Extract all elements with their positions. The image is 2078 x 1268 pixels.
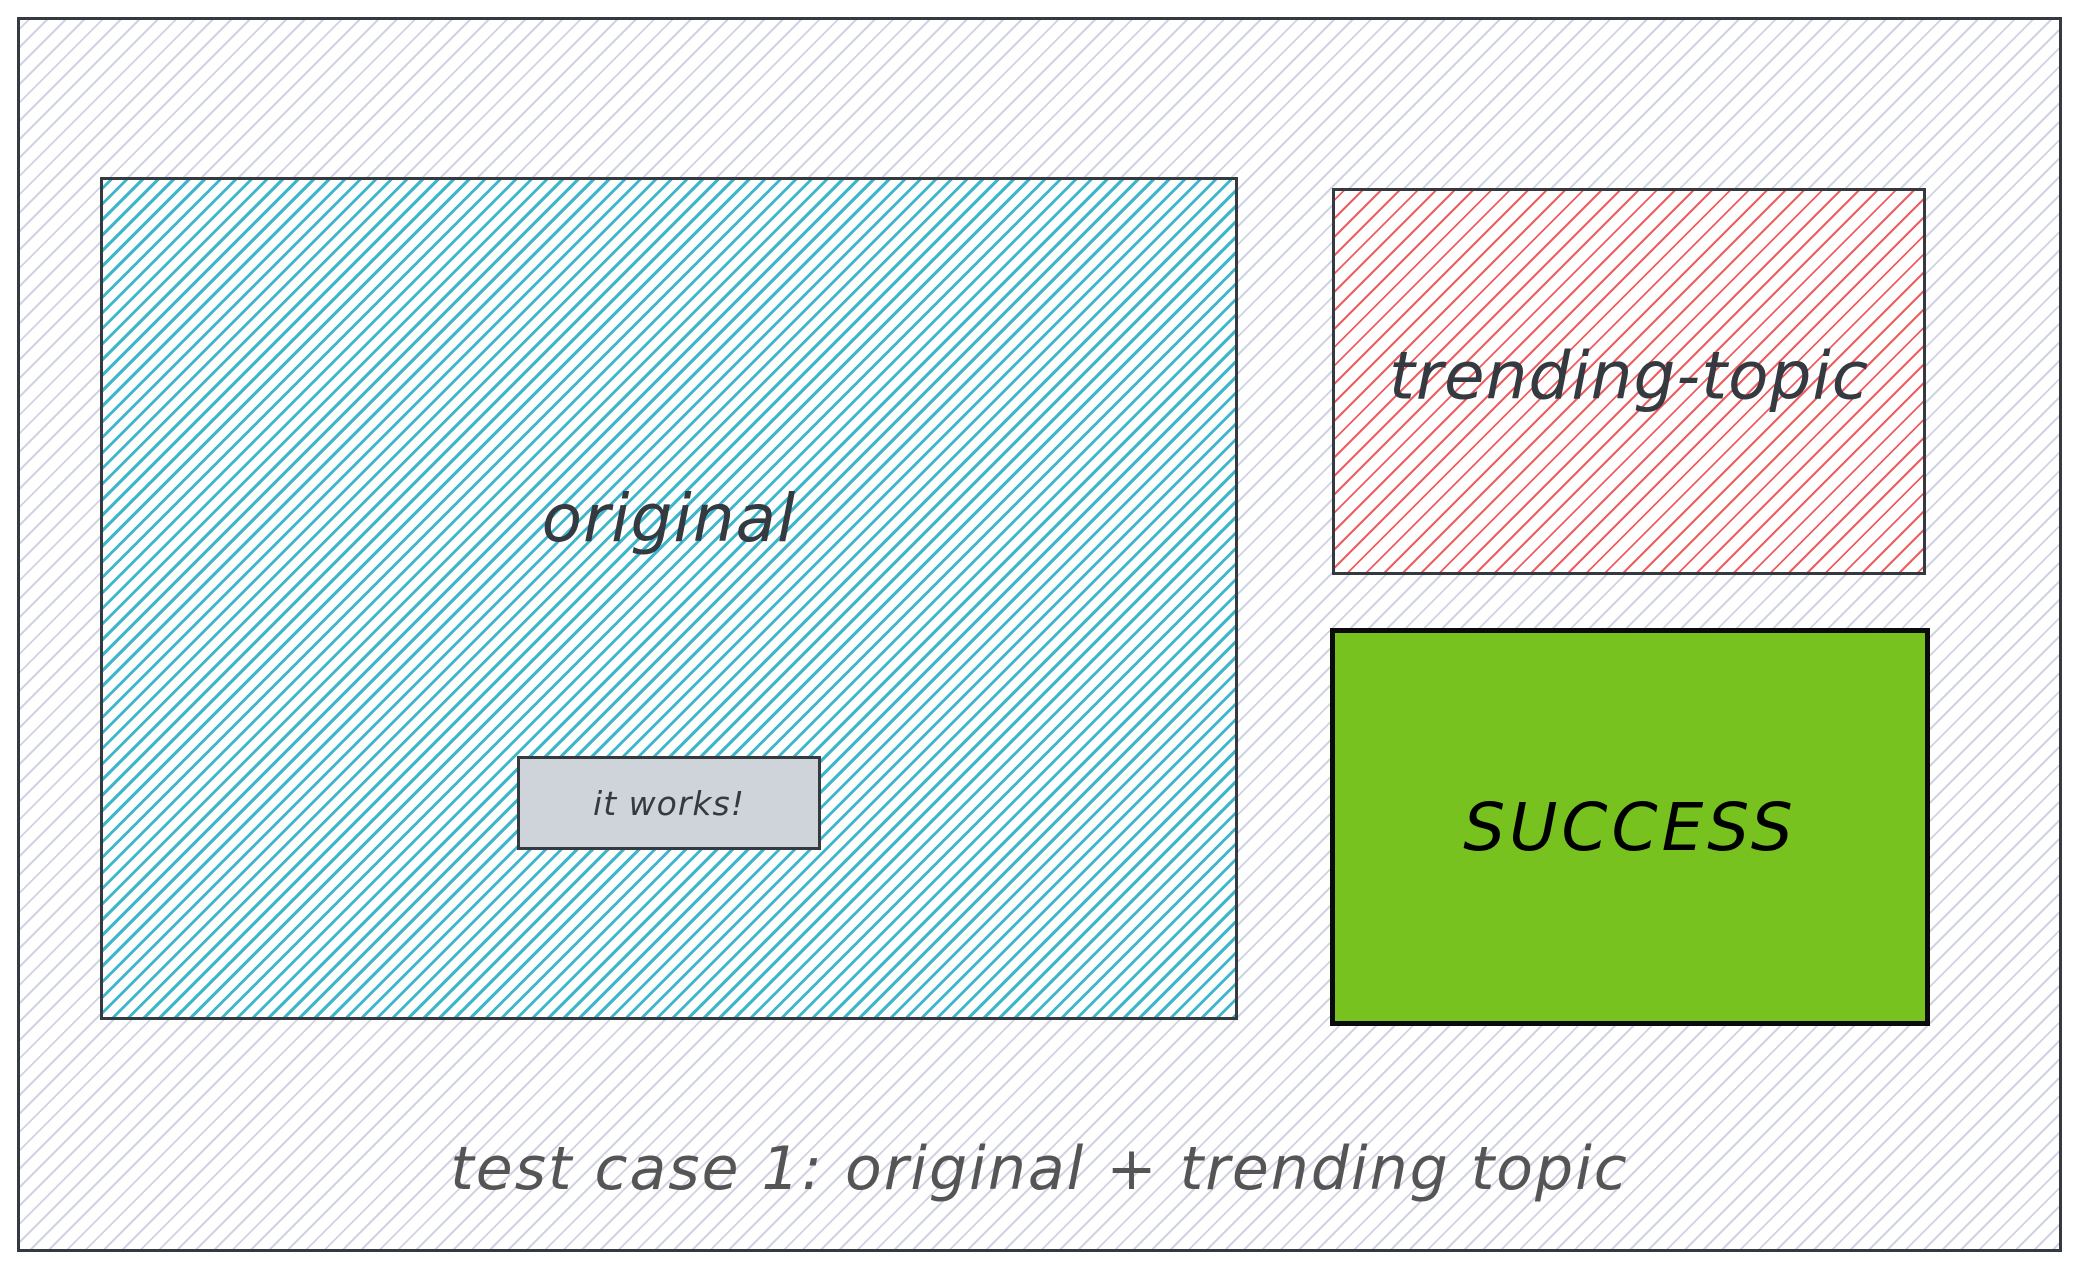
panel-trending-topic-label: trending-topic: [1335, 337, 1923, 414]
panel-trending-topic[interactable]: trending-topic: [1332, 188, 1926, 575]
it-works-button[interactable]: it works!: [517, 756, 821, 850]
caption-text: test case 1: original + trending topic: [20, 1134, 2059, 1204]
outer-frame: original it works! trending-topic SUCCES…: [17, 17, 2062, 1252]
panel-success-label: SUCCESS: [1463, 789, 1797, 866]
screenshot-stage: original it works! trending-topic SUCCES…: [0, 0, 2078, 1268]
panel-original[interactable]: original it works!: [100, 177, 1238, 1020]
panel-success[interactable]: SUCCESS: [1330, 628, 1930, 1026]
panel-original-label: original: [103, 480, 1235, 557]
